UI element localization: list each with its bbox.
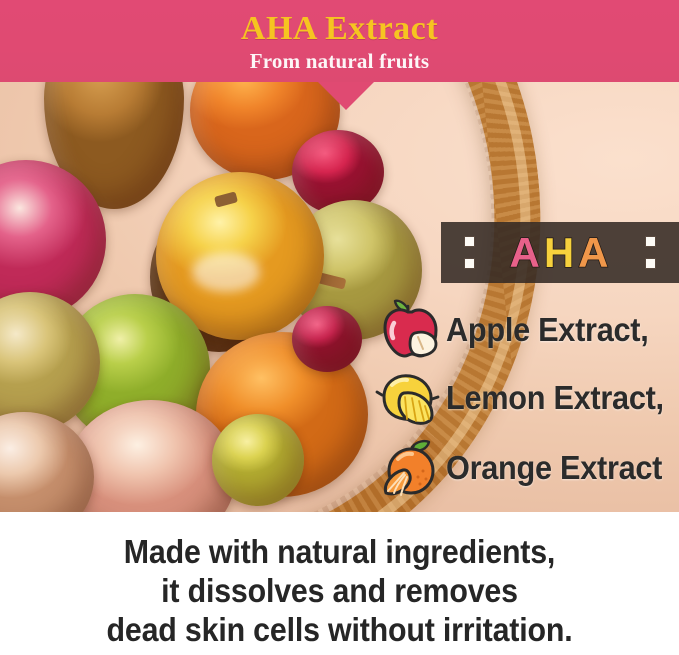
bottom-copy-line-1: Made with natural ingredients, [27,532,652,571]
fruit-radish-small [292,306,362,372]
aha-letter-2: H [544,232,576,274]
product-infographic: AHA Extract From natural fruits A H A [0,0,679,655]
bottom-copy-panel: Made with natural ingredients, it dissol… [0,512,679,655]
bottom-copy: Made with natural ingredients, it dissol… [0,532,679,649]
fruit-lemon-small-front [212,414,304,506]
orange-icon [374,437,446,499]
fruit-pile [0,82,430,512]
aha-badge: A H A [441,222,679,283]
fruit-apple-bottom-left [0,412,94,512]
extract-label: Lemon Extract, [446,379,664,417]
aha-letter-3: A [578,232,610,274]
apple-icon [374,299,446,361]
header-banner: AHA Extract From natural fruits [0,0,679,82]
extract-label: Apple Extract, [446,311,648,349]
header-pointer-triangle-icon [318,82,374,110]
page-title: AHA Extract [0,12,679,46]
lemon-icon [374,367,446,429]
bottom-copy-line-3: dead skin cells without irritation. [27,610,652,649]
square-dot-icon [645,236,656,247]
extract-label: Orange Extract [446,449,662,487]
list-item: Apple Extract, [374,296,679,364]
aha-badge-text: A H A [441,222,679,283]
extract-ingredient-list: Apple Extract, Lemon Extract, [374,296,679,504]
bottom-copy-line-2: it dissolves and removes [27,571,652,610]
badge-dots-right [645,236,656,269]
list-item: Orange Extract [374,432,679,504]
aha-letter-1: A [509,232,541,274]
lemon-highlight [192,252,260,292]
page-subtitle: From natural fruits [0,51,679,72]
list-item: Lemon Extract, [374,364,679,432]
square-dot-icon [645,258,656,269]
